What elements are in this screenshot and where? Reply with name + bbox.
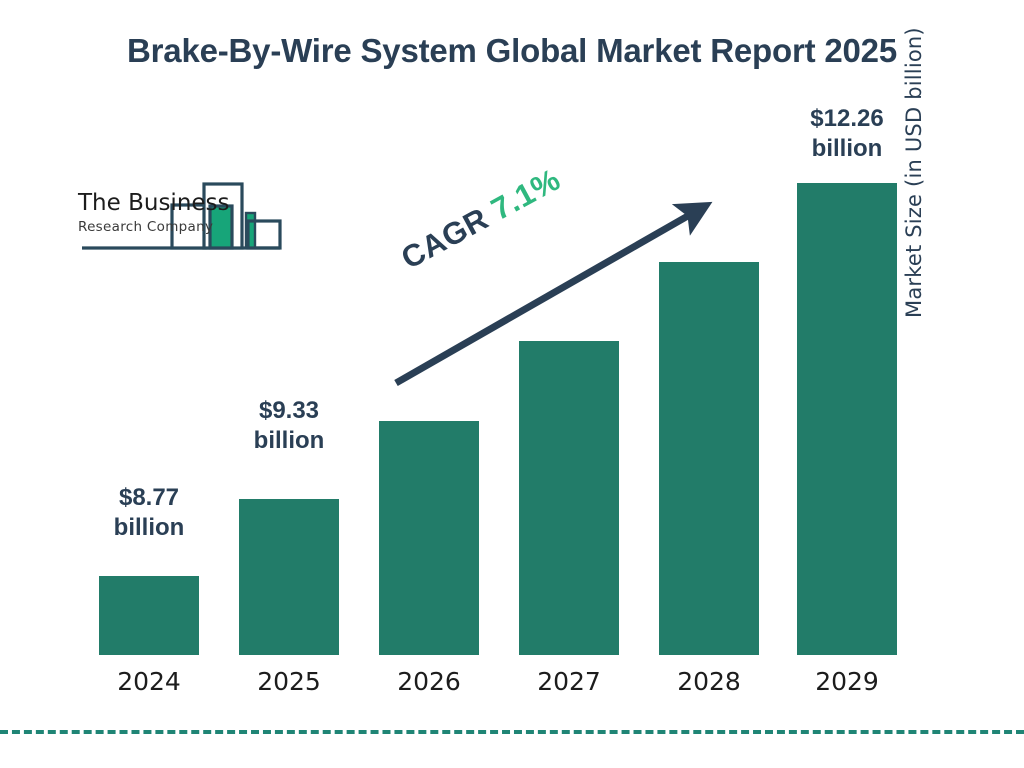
bar-2025 [239,499,339,655]
cagr-value: 7.1% [485,162,566,227]
chart-canvas: Brake-By-Wire System Global Market Repor… [0,0,1024,768]
x-tick-2026: 2026 [369,669,489,694]
value-unit-2029: billion [777,134,917,164]
x-tick-2024: 2024 [89,669,209,694]
logo-wordmark: The Business Research Company [78,192,230,235]
x-tick-2027: 2027 [509,669,629,694]
footer-divider [0,730,1024,734]
bar-2028 [659,262,759,655]
cagr-annotation: CAGR 7.1% [395,162,566,277]
y-axis-title: Market Size (in USD billion) [902,0,926,318]
x-tick-2029: 2029 [787,669,907,694]
company-logo: The Business Research Company [76,178,286,256]
bar-2024 [99,576,199,655]
value-amount-2025: $9.33 [219,396,359,426]
value-label-2025: $9.33 billion [219,396,359,456]
value-amount-2029: $12.26 [777,104,917,134]
value-amount-2024: $8.77 [79,483,219,513]
logo-line-2: Research Company [78,221,230,235]
value-label-2029: $12.26 billion [777,104,917,164]
x-tick-2025: 2025 [229,669,349,694]
page-title: Brake-By-Wire System Global Market Repor… [62,30,962,72]
value-unit-2024: billion [79,513,219,543]
value-unit-2025: billion [219,426,359,456]
bar-2026 [379,421,479,655]
value-label-2024: $8.77 billion [79,483,219,543]
cagr-label: CAGR [395,201,494,276]
bar-2027 [519,341,619,655]
x-tick-2028: 2028 [649,669,769,694]
bar-2029 [797,183,897,655]
logo-line-1: The Business [78,192,230,215]
